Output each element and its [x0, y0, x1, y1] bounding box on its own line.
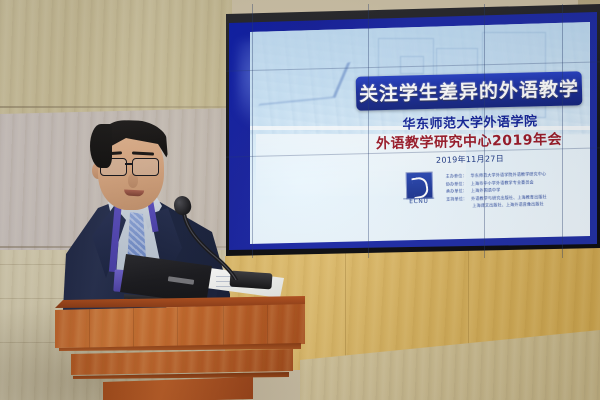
wood-grain-texture	[71, 349, 293, 375]
podium-mid-panel	[71, 349, 293, 375]
fine-print-row: 上海译文出版社、上海外语音像出版社	[446, 200, 574, 209]
eyeglass-bridge	[125, 163, 133, 165]
video-wall-seam	[252, 4, 253, 258]
hair-side	[90, 124, 112, 168]
conference-photo: 关注学生差异的外语教学 华东师范大学外语学院 外语教学研究中心2019年会 20…	[0, 0, 600, 400]
eyeglass-lens-right	[132, 158, 159, 176]
fine-print-value: 外语教学与研究出版社、上海教育出版社	[471, 194, 547, 202]
fine-print-value: 华东师范大学外语学院外语教学研究中心	[471, 171, 547, 179]
left-wall-upper-panel	[0, 0, 232, 122]
video-wall-seam	[368, 4, 369, 258]
wooden-podium	[55, 296, 305, 400]
presentation-slide: 关注学生差异的外语教学 华东师范大学外语学院 外语教学研究中心2019年会 20…	[250, 22, 590, 244]
ecnu-logo: ECNU	[402, 172, 437, 207]
fine-print-value: 上海外国语中学	[471, 187, 501, 194]
led-video-wall[interactable]: 关注学生差异的外语教学 华东师范大学外语学院 外语教学研究中心2019年会 20…	[226, 4, 600, 258]
fine-print-key: 协办单位：	[446, 181, 467, 188]
wood-grain-texture	[0, 0, 232, 122]
nose	[128, 174, 138, 188]
slide-title-plate: 关注学生差异的外语教学	[356, 71, 583, 111]
fine-print-value: 上海市中小学外语教学专业委员会	[471, 179, 534, 187]
wall-seam	[0, 106, 232, 108]
video-wall-seam	[562, 4, 563, 258]
slide-title: 关注学生差异的外语教学	[356, 74, 583, 107]
ecnu-logo-badge	[406, 172, 434, 200]
video-wall-seam	[484, 4, 485, 258]
ecnu-logo-caption: ECNU	[402, 198, 435, 206]
fine-print-key: 主办单位：	[446, 173, 467, 180]
fine-print-key: 承办单位：	[446, 188, 467, 195]
podium-base	[103, 377, 253, 400]
slide-fine-print: 主办单位： 华东师范大学外语学院外语教学研究中心 协办单位： 上海市中小学外语教…	[446, 170, 575, 211]
fine-print-key: 支持单位：	[446, 196, 467, 203]
ecnu-logo-mark	[411, 176, 429, 199]
wood-grain-texture	[55, 304, 305, 348]
podium-front-panel	[55, 304, 305, 348]
